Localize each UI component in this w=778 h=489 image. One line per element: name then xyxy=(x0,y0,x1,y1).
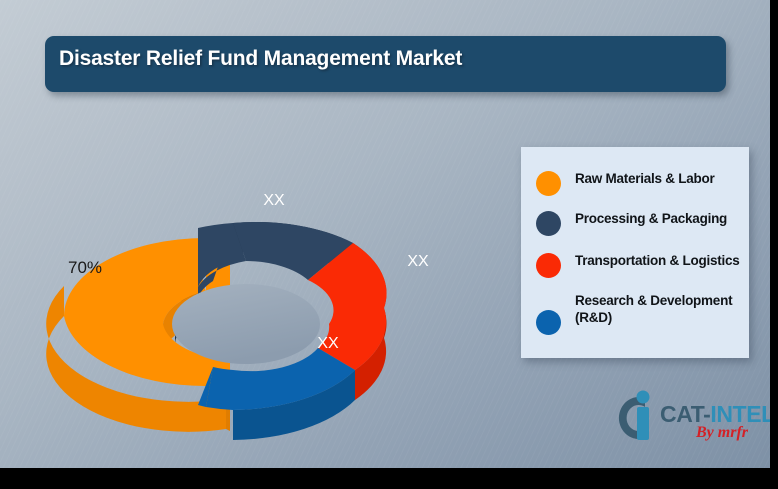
legend-dot-transportation-logistics xyxy=(536,253,561,278)
bottom-black-border xyxy=(0,468,778,489)
legend-dot-processing-packaging xyxy=(536,211,561,236)
slice-value-raw-materials-labor: 70% xyxy=(68,258,102,277)
legend-item-research-development[interactable]: Research & Development (R&D) xyxy=(536,292,746,335)
chart-legend: Raw Materials & Labor Processing & Packa… xyxy=(521,147,749,358)
donut-chart-svg: 70% XX XX XX xyxy=(8,148,498,453)
slice-value-research-development: XX xyxy=(317,335,339,352)
legend-label-processing-packaging: Processing & Packaging xyxy=(575,210,727,227)
legend-item-processing-packaging[interactable]: Processing & Packaging xyxy=(536,210,746,236)
donut-hole xyxy=(172,284,320,364)
legend-dot-research-development xyxy=(536,310,561,335)
legend-item-transportation-logistics[interactable]: Transportation & Logistics xyxy=(536,252,746,278)
slice-value-processing-packaging: XX xyxy=(263,192,285,209)
right-black-border xyxy=(770,0,778,468)
legend-dot-raw-materials-labor xyxy=(536,171,561,196)
page-title: Disaster Relief Fund Management Market xyxy=(59,47,462,71)
donut-chart: 70% XX XX XX xyxy=(8,148,498,453)
slice-value-transportation-logistics: XX xyxy=(407,253,429,270)
cat-intel-logo[interactable]: CAT-INTEL By mrfr xyxy=(612,388,772,454)
legend-item-raw-materials-labor[interactable]: Raw Materials & Labor xyxy=(536,170,746,196)
slide-canvas: Disaster Relief Fund Management Market xyxy=(0,0,778,489)
title-banner: Disaster Relief Fund Management Market xyxy=(45,36,726,92)
logo-byline: By mrfr xyxy=(696,424,748,442)
legend-label-raw-materials-labor: Raw Materials & Labor xyxy=(575,170,715,187)
legend-label-research-development: Research & Development (R&D) xyxy=(575,292,746,326)
cat-intel-logo-icon xyxy=(612,388,664,448)
legend-label-transportation-logistics: Transportation & Logistics xyxy=(575,252,740,269)
